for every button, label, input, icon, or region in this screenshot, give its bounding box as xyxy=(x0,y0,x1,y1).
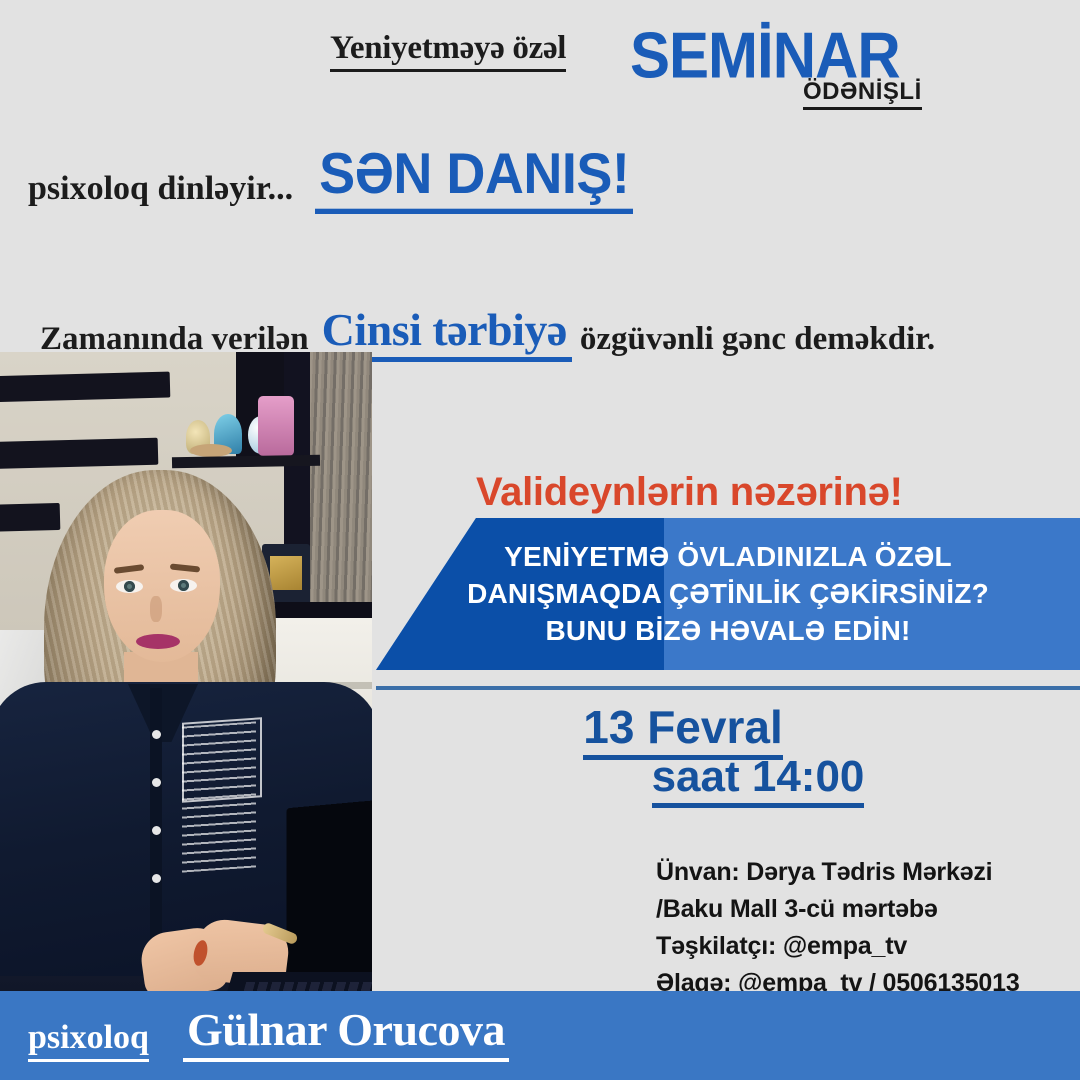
callout-line-3: BUNU BİZƏ HƏVALƏ EDİN! xyxy=(545,615,910,647)
photo-laptop-screen xyxy=(286,799,372,999)
contact-address-line-1: Ünvan: Dərya Tədris Mərkəzi xyxy=(656,854,1080,891)
photo-button xyxy=(152,826,161,835)
poster-root: Yeniyetməyə özəl SEMİNAR ÖDƏNİŞLİ psixol… xyxy=(0,0,1080,1080)
photo-lips xyxy=(136,634,180,649)
header-tagline: Yeniyetməyə özəl xyxy=(330,30,566,72)
event-date: 13 Fevral xyxy=(583,700,782,760)
callout-line-2: DANIŞMAQDA ÇƏTİNLİK ÇƏKİRSİNİZ? xyxy=(467,578,989,610)
event-time: saat 14:00 xyxy=(652,752,865,808)
tagline-2-accent: SƏN DANIŞ! xyxy=(315,141,633,214)
header-subtitle: ÖDƏNİŞLİ xyxy=(803,78,922,110)
photo-blouse-print xyxy=(182,721,256,872)
photo-button xyxy=(152,778,161,787)
photo-decor-lantern xyxy=(258,396,294,456)
contact-address-line-2: /Baku Mall 3-cü mərtəbə xyxy=(656,891,1080,928)
tagline-row-2: psixoloq dinləyir... SƏN DANIŞ! xyxy=(28,148,1058,214)
photo-wall-slat xyxy=(0,438,158,470)
photo-button xyxy=(152,730,161,739)
photo-nose xyxy=(150,596,162,622)
footer-content: psixoloq Gülnar Orucova xyxy=(28,1003,509,1062)
photo-wall-slat xyxy=(0,503,60,532)
event-date-row: 13 Fevral xyxy=(376,700,1080,760)
section-divider xyxy=(376,686,1080,690)
footer-role: psixoloq xyxy=(28,1019,149,1062)
photo-eye xyxy=(116,580,143,593)
tagline-2-plain: psixoloq dinləyir... xyxy=(28,170,293,214)
photo-wall-slat xyxy=(0,372,170,403)
footer-bar: psixoloq Gülnar Orucova xyxy=(0,991,1080,1080)
contact-organizer: Təşkilatçı: @empa_tv xyxy=(656,928,1080,965)
photo-eye xyxy=(170,579,197,592)
callout-trapezoid: YENİYETMƏ ÖVLADINIZLA ÖZƏL DANIŞMAQDA ÇƏ… xyxy=(376,518,1080,670)
footer-name: Gülnar Orucova xyxy=(183,1003,509,1062)
event-time-row: saat 14:00 xyxy=(376,752,1080,808)
photo-decor-item xyxy=(190,444,232,457)
callout-line-1: YENİYETMƏ ÖVLADINIZLA ÖZƏL xyxy=(504,541,952,573)
callout-text: YENİYETMƏ ÖVLADINIZLA ÖZƏL DANIŞMAQDA ÇƏ… xyxy=(376,518,1080,670)
contact-block: Ünvan: Dərya Tədris Mərkəzi /Baku Mall 3… xyxy=(656,854,1080,1002)
tagline-3-plain-after: özgüvənli gənc deməkdir. xyxy=(580,321,935,362)
header: Yeniyetməyə özəl SEMİNAR ÖDƏNİŞLİ xyxy=(0,14,1080,104)
psychologist-photo xyxy=(0,352,372,1052)
photo-button xyxy=(152,874,161,883)
callout-headline: Valideynlərin nəzərinə! xyxy=(476,470,1080,515)
